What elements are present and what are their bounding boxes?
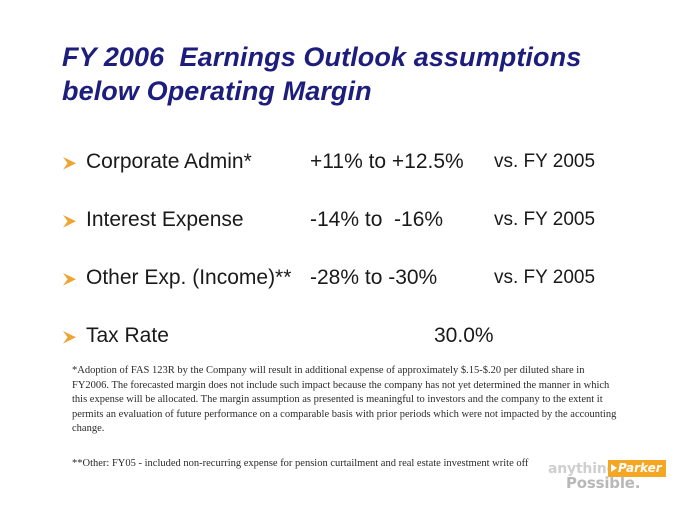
arrowhead-bullet-icon bbox=[62, 269, 82, 291]
list-item: Interest Expense -14% to -16% vs. FY 200… bbox=[0, 206, 680, 264]
parker-chevron-icon bbox=[611, 464, 617, 472]
arrowhead-bullet-icon bbox=[62, 327, 82, 349]
assumption-value: -28% to -30% bbox=[310, 264, 437, 292]
assumption-comparison: vs. FY 2005 bbox=[494, 264, 595, 292]
assumption-comparison: vs. FY 2005 bbox=[494, 148, 595, 176]
page-title-line-1: FY 2006 Earnings Outlook assumptions bbox=[62, 40, 652, 74]
footnote-secondary: **Other: FY05 - included non-recurring e… bbox=[72, 457, 602, 472]
page-title: FY 2006 Earnings Outlook assumptions bel… bbox=[62, 40, 652, 108]
assumption-label: Interest Expense bbox=[86, 206, 244, 234]
slide-canvas: FY 2006 Earnings Outlook assumptions bel… bbox=[0, 0, 680, 525]
assumption-label: Tax Rate bbox=[86, 322, 169, 350]
list-item: Corporate Admin* +11% to +12.5% vs. FY 2… bbox=[0, 148, 680, 206]
assumption-label: Other Exp. (Income)** bbox=[86, 264, 291, 292]
logo-tagline-bottom: Possible. bbox=[566, 475, 640, 492]
parker-brand-name: Parker bbox=[618, 462, 662, 475]
arrowhead-bullet-icon bbox=[62, 153, 82, 175]
list-item: Other Exp. (Income)** -28% to -30% vs. F… bbox=[0, 264, 680, 322]
assumption-value: -14% to -16% bbox=[310, 206, 443, 234]
arrowhead-bullet-icon bbox=[62, 211, 82, 233]
assumption-label: Corporate Admin* bbox=[86, 148, 252, 176]
assumption-value: +11% to +12.5% bbox=[310, 148, 464, 176]
assumption-value: 30.0% bbox=[434, 322, 494, 350]
assumption-comparison: vs. FY 2005 bbox=[494, 206, 595, 234]
page-title-line-2: below Operating Margin bbox=[62, 74, 652, 108]
assumption-list: Corporate Admin* +11% to +12.5% vs. FY 2… bbox=[0, 148, 680, 380]
footnote-primary: *Adoption of FAS 123R by the Company wil… bbox=[72, 364, 617, 437]
parker-logo: anything Parker Possible. bbox=[548, 461, 668, 497]
